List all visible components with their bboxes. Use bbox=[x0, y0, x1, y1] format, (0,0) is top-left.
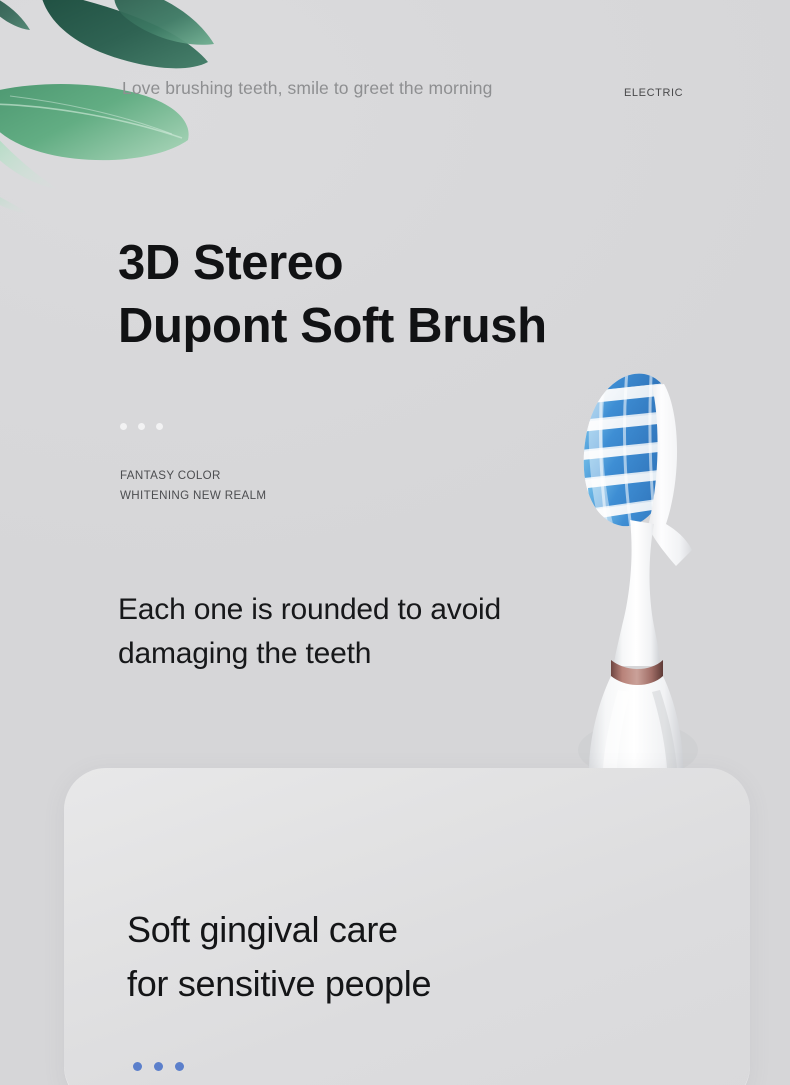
brand-mark-label: ELECTRIC bbox=[624, 87, 683, 99]
electric-toothbrush-image bbox=[556, 360, 756, 790]
dot-separator-light bbox=[120, 423, 163, 430]
dot-icon bbox=[175, 1062, 184, 1071]
dot-icon bbox=[120, 423, 127, 430]
dot-separator-blue bbox=[133, 1062, 184, 1071]
neck bbox=[614, 520, 660, 666]
leaf-decoration-icon bbox=[0, 0, 330, 230]
dot-icon bbox=[154, 1062, 163, 1071]
hero-heading-line-2: Dupont Soft Brush bbox=[118, 295, 547, 358]
subcaption-line-1: FANTASY COLOR bbox=[120, 466, 266, 486]
hero-heading-line-1: 3D Stereo bbox=[118, 236, 343, 290]
product-poster: Love brushing teeth, smile to greet the … bbox=[0, 0, 790, 1085]
dot-icon bbox=[156, 423, 163, 430]
card-heading-line-2: for sensitive people bbox=[127, 957, 431, 1011]
subcaption-block: FANTASY COLOR WHITENING NEW REALM bbox=[120, 466, 266, 506]
dot-icon bbox=[133, 1062, 142, 1071]
card-heading: Soft gingival care for sensitive people bbox=[127, 903, 431, 1011]
feature-statement: Each one is rounded to avoid damaging th… bbox=[118, 588, 501, 676]
subcaption-line-2: WHITENING NEW REALM bbox=[120, 486, 266, 506]
feature-statement-line-2: damaging the teeth bbox=[118, 632, 501, 676]
feature-statement-line-1: Each one is rounded to avoid bbox=[118, 588, 501, 632]
dot-icon bbox=[138, 423, 145, 430]
hero-heading: 3D Stereo Dupont Soft Brush bbox=[118, 232, 547, 358]
card-heading-line-1: Soft gingival care bbox=[127, 903, 431, 957]
tagline-text: Love brushing teeth, smile to greet the … bbox=[122, 78, 492, 99]
